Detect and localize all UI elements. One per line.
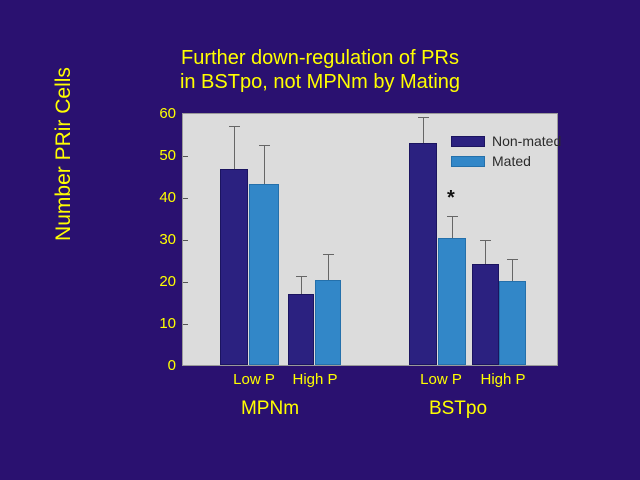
bar-mpnm-highp-mated [315, 280, 341, 365]
slide-canvas: Further down-regulation of PRs in BSTpo,… [0, 0, 640, 480]
errorbar-cap-mpnm-lowp-nonmated [229, 126, 240, 127]
group-label-mpnm: MPNm [200, 398, 340, 420]
errorbar-cap-bstpo-lowp-nonmated [418, 117, 429, 118]
errorbar-mpnm-lowp-mated [264, 146, 265, 184]
bar-bstpo-highp-nonmated [472, 264, 499, 365]
legend-swatch-mated [451, 156, 485, 167]
y-axis-label: Number PRir Cells [52, 44, 76, 264]
y-tick-label-10: 10 [136, 316, 176, 331]
y-tick-mark-30 [183, 240, 188, 241]
y-tick-label-30: 30 [136, 232, 176, 247]
errorbar-bstpo-lowp-mated [452, 217, 453, 238]
y-tick-label-0: 0 [136, 358, 176, 373]
bar-mpnm-lowp-nonmated [220, 169, 248, 365]
errorbar-cap-mpnm-highp-mated [323, 254, 334, 255]
legend-swatch-non-mated [451, 136, 485, 147]
x-tick-label-mpnm-lowp: Low P [219, 371, 289, 388]
x-tick-label-bstpo-lowp: Low P [406, 371, 476, 388]
errorbar-cap-mpnm-highp-nonmated [296, 276, 307, 277]
bar-mpnm-lowp-mated [249, 184, 279, 365]
errorbar-mpnm-highp-mated [328, 255, 329, 280]
bar-mpnm-highp-nonmated [288, 294, 314, 365]
errorbar-mpnm-highp-nonmated [301, 277, 302, 294]
errorbar-bstpo-highp-mated [512, 260, 513, 281]
y-tick-mark-10 [183, 324, 188, 325]
errorbar-cap-bstpo-lowp-mated [447, 216, 458, 217]
legend-label-mated: Mated [492, 153, 531, 169]
chart-legend: Non-mated Mated [451, 132, 563, 172]
plot-area: * Non-mated Mated [182, 113, 558, 366]
x-tick-label-bstpo-highp: High P [468, 371, 538, 388]
chart-title: Further down-regulation of PRs in BSTpo,… [0, 46, 640, 94]
errorbar-bstpo-lowp-nonmated [423, 118, 424, 143]
legend-item-non-mated: Non-mated [451, 132, 563, 150]
significance-star: * [447, 188, 455, 208]
y-tick-label-60: 60 [136, 106, 176, 121]
bar-bstpo-lowp-nonmated [409, 143, 437, 365]
bar-bstpo-lowp-mated [438, 238, 466, 365]
errorbar-bstpo-highp-nonmated [485, 241, 486, 264]
y-tick-mark-40 [183, 198, 188, 199]
y-tick-mark-20 [183, 282, 188, 283]
x-tick-label-mpnm-highp: High P [280, 371, 350, 388]
legend-label-non-mated: Non-mated [492, 133, 561, 149]
y-tick-label-20: 20 [136, 274, 176, 289]
y-tick-mark-50 [183, 156, 188, 157]
legend-item-mated: Mated [451, 152, 563, 170]
bar-bstpo-highp-mated [499, 281, 526, 365]
errorbar-mpnm-lowp-nonmated [234, 127, 235, 169]
errorbar-cap-bstpo-highp-mated [507, 259, 518, 260]
group-label-bstpo: BSTpo [388, 398, 528, 420]
y-tick-label-50: 50 [136, 148, 176, 163]
errorbar-cap-bstpo-highp-nonmated [480, 240, 491, 241]
y-tick-label-40: 40 [136, 190, 176, 205]
errorbar-cap-mpnm-lowp-mated [259, 145, 270, 146]
